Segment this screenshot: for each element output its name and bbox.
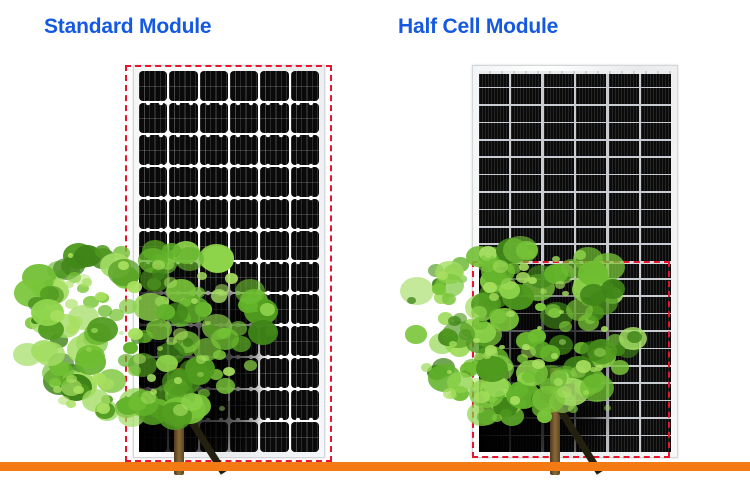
tree-foliage-highlight xyxy=(554,378,563,385)
solar-cell xyxy=(200,135,228,165)
half-solar-cell xyxy=(576,158,606,174)
solar-cell xyxy=(230,135,258,165)
solar-cell xyxy=(230,199,258,229)
solar-cell xyxy=(291,103,319,133)
half-solar-cell xyxy=(641,175,671,191)
tree-foliage xyxy=(407,297,416,304)
solar-cell xyxy=(260,358,288,388)
tree-foliage xyxy=(235,279,265,304)
half-solar-cell xyxy=(641,401,671,417)
tree-foliage-highlight xyxy=(449,341,457,347)
solar-cell xyxy=(139,135,167,165)
half-solar-cell xyxy=(479,141,509,157)
tree-foliage-highlight xyxy=(53,278,64,287)
tree-foliage-highlight xyxy=(595,365,603,371)
half-solar-cell xyxy=(641,367,671,383)
tree-foliage-highlight xyxy=(118,261,129,270)
half-solar-cell xyxy=(641,228,671,244)
tree-foliage-highlight xyxy=(576,360,592,372)
tree-foliage-highlight xyxy=(215,284,230,296)
half-solar-cell xyxy=(641,419,671,435)
tree-foliage-highlight xyxy=(197,372,204,378)
tree-foliage xyxy=(627,331,642,343)
half-solar-cell xyxy=(609,175,639,191)
tree-right xyxy=(438,243,608,470)
half-solar-cell xyxy=(641,384,671,400)
tree-foliage-highlight xyxy=(164,277,177,287)
tree-foliage xyxy=(56,270,65,278)
tree-foliage-highlight xyxy=(448,392,457,399)
tree-foliage-highlight xyxy=(68,253,74,258)
tree-foliage-highlight xyxy=(475,406,484,413)
tree-foliage-highlight xyxy=(519,263,529,271)
solar-cell xyxy=(139,199,167,229)
cell-column xyxy=(260,71,288,452)
tree-foliage-highlight xyxy=(225,273,238,284)
tree-foliage-highlight xyxy=(559,339,566,345)
half-solar-cell xyxy=(479,175,509,191)
half-solar-cell xyxy=(609,158,639,174)
tree-foliage xyxy=(152,268,166,279)
tree-foliage xyxy=(405,325,428,344)
half-solar-cell xyxy=(576,228,606,244)
solar-cell xyxy=(291,294,319,324)
half-solar-cell xyxy=(544,123,574,139)
tree-foliage xyxy=(500,409,512,419)
half-solar-cell xyxy=(641,297,671,313)
tree-foliage-highlight xyxy=(65,280,74,287)
tree-foliage xyxy=(561,259,582,277)
half-solar-cell xyxy=(641,210,671,226)
half-solar-cell xyxy=(511,88,541,104)
tree-foliage xyxy=(578,261,607,285)
half-solar-cell xyxy=(544,158,574,174)
half-solar-cell xyxy=(641,141,671,157)
tree-foliage xyxy=(244,360,257,371)
solar-cell xyxy=(169,167,197,197)
tree-foliage xyxy=(400,277,434,305)
half-solar-cell xyxy=(609,193,639,209)
tree-foliage-highlight xyxy=(473,338,480,343)
tree-foliage xyxy=(522,371,536,382)
half-solar-cell xyxy=(544,210,574,226)
tree-foliage xyxy=(260,303,275,315)
tree-foliage xyxy=(199,244,234,272)
solar-cell xyxy=(291,262,319,292)
solar-cell xyxy=(139,103,167,133)
tree-foliage xyxy=(118,354,134,367)
tree-foliage xyxy=(575,250,586,259)
tree-foliage xyxy=(580,374,614,402)
tree-foliage-highlight xyxy=(474,353,483,360)
tree-foliage xyxy=(147,374,156,382)
comparison-figure: Standard Module Half Cell Module xyxy=(0,0,750,484)
tree-foliage xyxy=(248,320,278,345)
half-solar-cell xyxy=(641,106,671,122)
tree-foliage-highlight xyxy=(469,378,485,391)
half-solar-cell xyxy=(479,193,509,209)
solar-cell xyxy=(260,167,288,197)
solar-cell xyxy=(291,199,319,229)
tree-foliage-highlight xyxy=(133,354,146,364)
tree-foliage-highlight xyxy=(219,406,225,411)
half-solar-cell xyxy=(641,314,671,330)
half-solar-cell xyxy=(511,210,541,226)
half-solar-cell xyxy=(576,141,606,157)
solar-cell xyxy=(200,71,228,101)
tree-foliage-highlight xyxy=(95,292,107,301)
tree-foliage-highlight xyxy=(152,260,165,270)
half-solar-cell xyxy=(641,280,671,296)
tree-foliage xyxy=(611,360,629,375)
half-solar-cell xyxy=(641,349,671,365)
solar-cell xyxy=(291,231,319,261)
half-solar-cell xyxy=(609,106,639,122)
solar-cell xyxy=(291,167,319,197)
half-solar-cell xyxy=(641,88,671,104)
solar-cell xyxy=(230,167,258,197)
half-solar-cell xyxy=(641,262,671,278)
tree-foliage-highlight xyxy=(97,403,110,414)
tree-foliage-highlight xyxy=(82,278,93,286)
half-solar-cell xyxy=(641,158,671,174)
orange-ground-strip xyxy=(0,462,750,471)
solar-cell xyxy=(260,422,288,452)
solar-cell xyxy=(291,135,319,165)
tree-foliage xyxy=(216,378,236,394)
tree-foliage-highlight xyxy=(562,291,568,296)
solar-cell xyxy=(169,103,197,133)
tree-foliage-highlight xyxy=(552,256,560,262)
half-solar-cell xyxy=(609,210,639,226)
tree-foliage-highlight xyxy=(510,396,520,404)
solar-cell xyxy=(200,103,228,133)
half-solar-cell xyxy=(609,436,639,452)
half-solar-cell xyxy=(576,106,606,122)
half-solar-cell xyxy=(609,141,639,157)
solar-cell xyxy=(169,71,197,101)
tree-foliage-highlight xyxy=(128,328,143,340)
tree-foliage-highlight xyxy=(583,390,588,394)
tree-foliage-highlight xyxy=(555,281,565,289)
half-solar-cell xyxy=(511,175,541,191)
solar-cell xyxy=(291,71,319,101)
half-solar-cell xyxy=(479,158,509,174)
solar-cell xyxy=(200,199,228,229)
solar-cell xyxy=(260,71,288,101)
tree-foliage-highlight xyxy=(485,253,491,257)
half-solar-cell xyxy=(544,141,574,157)
half-solar-cell xyxy=(609,419,639,435)
tree-foliage-highlight xyxy=(141,391,156,403)
tree-foliage xyxy=(231,336,251,352)
tree-foliage-highlight xyxy=(65,299,77,309)
half-solar-cell xyxy=(479,106,509,122)
solar-cell xyxy=(260,103,288,133)
half-solar-cell xyxy=(511,106,541,122)
half-solar-cell xyxy=(609,123,639,139)
panel-top-strip xyxy=(479,71,671,74)
half-solar-cell xyxy=(544,228,574,244)
solar-cell xyxy=(291,326,319,356)
solar-cell xyxy=(291,390,319,420)
half-solar-cell xyxy=(609,88,639,104)
tree-foliage xyxy=(472,317,488,330)
tree-foliage-highlight xyxy=(551,353,558,359)
tree-foliage-highlight xyxy=(447,370,452,374)
half-solar-cell xyxy=(641,123,671,139)
half-solar-cell xyxy=(641,193,671,209)
tree-foliage-highlight xyxy=(127,281,142,293)
solar-cell xyxy=(200,167,228,197)
solar-cell xyxy=(260,231,288,261)
half-solar-cell xyxy=(479,88,509,104)
half-solar-cell xyxy=(511,123,541,139)
tree-foliage-highlight xyxy=(197,272,208,281)
half-solar-cell xyxy=(479,123,509,139)
solar-cell xyxy=(260,199,288,229)
half-solar-cell xyxy=(479,210,509,226)
half-solar-cell xyxy=(576,193,606,209)
half-solar-cell xyxy=(544,193,574,209)
tree-foliage-highlight xyxy=(66,375,77,384)
tree-foliage-highlight xyxy=(66,324,78,334)
tree-foliage-highlight xyxy=(173,328,188,340)
half-solar-cell xyxy=(576,210,606,226)
solar-cell xyxy=(291,358,319,388)
half-solar-cell xyxy=(641,245,671,261)
tree-foliage-highlight xyxy=(202,355,209,361)
solar-cell xyxy=(260,135,288,165)
tree-left xyxy=(52,243,237,470)
tree-foliage-highlight xyxy=(601,326,608,332)
tree-foliage-highlight xyxy=(174,377,182,384)
page-title-half-cell-module: Half Cell Module xyxy=(398,15,558,39)
solar-cell xyxy=(291,422,319,452)
tree-foliage-highlight xyxy=(119,331,124,335)
half-solar-cell xyxy=(511,141,541,157)
half-solar-cell xyxy=(544,106,574,122)
tree-foliage-highlight xyxy=(522,344,530,350)
tree-foliage xyxy=(503,236,537,264)
tree-foliage xyxy=(559,321,572,332)
solar-cell xyxy=(139,167,167,197)
tree-foliage-highlight xyxy=(604,405,611,411)
tree-foliage-highlight xyxy=(223,367,235,377)
solar-cell xyxy=(169,135,197,165)
half-solar-cell xyxy=(544,88,574,104)
half-solar-cell xyxy=(576,175,606,191)
solar-cell xyxy=(230,71,258,101)
tree-foliage-highlight xyxy=(559,310,564,314)
solar-cell xyxy=(230,103,258,133)
tree-foliage-highlight xyxy=(474,391,490,404)
tree-foliage xyxy=(98,305,112,317)
tree-foliage-highlight xyxy=(499,345,504,349)
half-solar-cell xyxy=(609,401,639,417)
tree-foliage xyxy=(492,414,502,422)
half-solar-cell xyxy=(576,123,606,139)
solar-cell xyxy=(260,390,288,420)
solar-cell xyxy=(139,71,167,101)
tree-foliage-highlight xyxy=(483,282,497,293)
half-solar-cell xyxy=(576,88,606,104)
page-title-standard-module: Standard Module xyxy=(44,15,211,39)
half-solar-cell xyxy=(511,193,541,209)
solar-cell xyxy=(169,199,197,229)
tree-foliage xyxy=(448,316,461,327)
half-solar-cell xyxy=(511,158,541,174)
half-solar-cell xyxy=(609,228,639,244)
half-solar-cell xyxy=(641,436,671,452)
cell-column xyxy=(291,71,319,452)
half-solar-cell xyxy=(544,175,574,191)
tree-foliage xyxy=(175,247,204,271)
tree-foliage-highlight xyxy=(540,289,546,294)
